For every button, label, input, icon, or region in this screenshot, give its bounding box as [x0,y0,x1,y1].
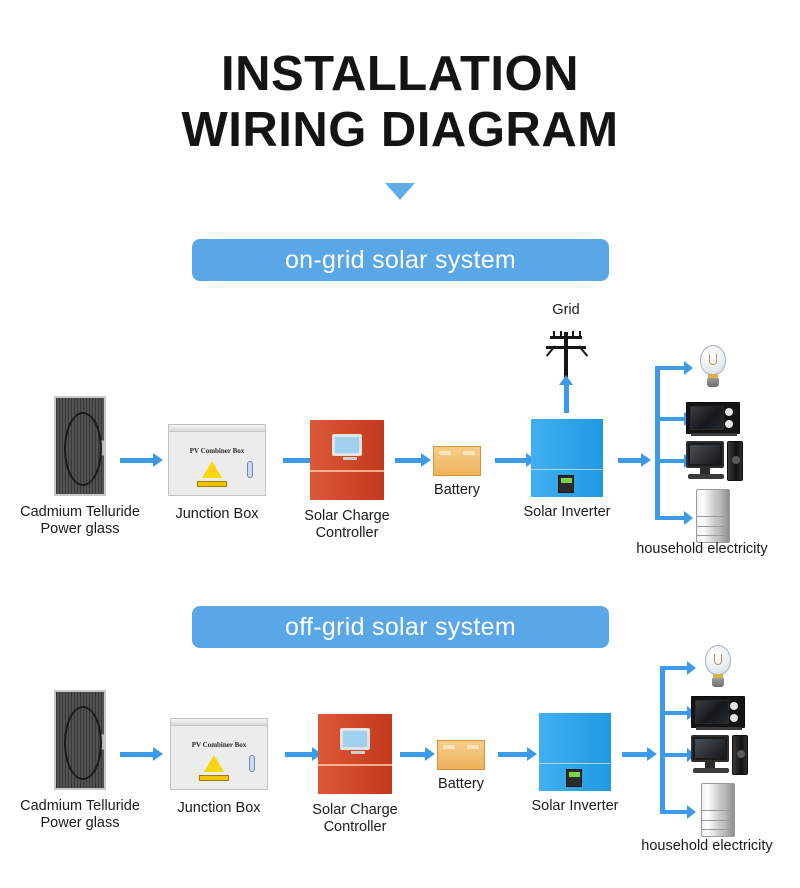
branch-to-fridge-offgrid [660,810,688,814]
junction-box-top-bar [171,719,267,726]
appliance-refrigerator-ongrid [696,489,730,543]
refrigerator-icon [696,489,730,543]
inverter-display-icon [558,475,574,493]
load-bus-ongrid [655,366,660,520]
title-line-1: INSTALLATION [0,46,800,102]
fridge-seam-3 [702,829,734,830]
arrow-junction-to-controller-ongrid [283,458,313,463]
battery-label: Battery [438,776,484,793]
arrow-battery-to-inverter-ongrid [495,458,527,463]
junction-box-label: Junction Box [175,506,258,523]
pole-pin-2 [560,331,562,336]
solar-panel-label: Cadmium Telluride Power glass [20,798,140,832]
microwave-foot [691,433,737,436]
junction-box-top-bar [169,425,265,432]
branch-to-computer-offgrid [660,753,688,757]
arrow-battery-to-inverter-offgrid [498,752,528,757]
node-controller-ongrid: Solar Charge Controller [310,420,384,500]
pole-pin-3 [572,331,574,336]
solar-charge-controller-icon [318,714,392,794]
inverter-seam [539,763,611,764]
section-banner-on-grid: on-grid solar system [192,239,609,281]
monitor-icon [691,735,729,762]
branch-to-computer-ongrid [655,459,685,463]
controller-seam [310,470,384,472]
branch-to-microwave-offgrid [660,711,688,715]
warning-strip-icon [197,481,227,487]
computer-icon [691,735,749,777]
junction-box-handle-icon [247,461,253,478]
junction-box-text: PV Combiner Box [169,447,265,455]
fridge-seam-2 [697,526,729,527]
pole-crossarm-upper [550,336,582,339]
solar-panel-icon [54,690,106,790]
household-label-ongrid: household electricity [636,541,767,558]
monitor-base [693,768,729,773]
refrigerator-icon [701,783,735,837]
controller-label: Solar Charge Controller [304,508,389,542]
pole-pin-4 [579,331,581,336]
microwave-door [695,700,729,724]
panel-junction-icon [100,440,106,456]
load-bus-offgrid [660,666,665,814]
node-solar-panel-ongrid: Cadmium Telluride Power glass [54,396,106,496]
junction-box-text: PV Combiner Box [171,741,267,749]
light-bulb-icon [697,345,729,387]
light-bulb-icon [702,645,734,687]
controller-label: Solar Charge Controller [312,802,397,836]
appliance-microwave-offgrid [691,696,745,728]
appliance-light-bulb-ongrid [697,345,729,387]
controller-lcd-icon [340,728,370,750]
computer-tower-icon [727,441,743,481]
microwave-icon [686,402,740,434]
solar-panel-label: Cadmium Telluride Power glass [20,504,140,538]
controller-seam [318,764,392,766]
appliance-computer-ongrid [686,441,744,483]
microwave-foot [696,727,742,730]
arrow-junction-to-controller-offgrid [285,752,313,757]
microwave-knob-1 [730,702,738,710]
node-battery-offgrid: Battery [437,740,485,770]
inverter-label: Solar Inverter [523,504,610,521]
title-line-2: WIRING DIAGRAM [0,102,800,158]
branch-to-fridge-ongrid [655,516,685,520]
warning-strip-icon [199,775,229,781]
warning-triangle-icon [202,461,222,478]
arrow-panel-to-junction-offgrid [120,752,154,757]
node-junction-box-ongrid: PV Combiner Box Junction Box [168,424,266,496]
arrow-inverter-to-loads-offgrid [622,752,648,757]
battery-icon [437,740,485,770]
solar-charge-controller-icon [310,420,384,500]
monitor-icon [686,441,724,468]
appliance-computer-offgrid [691,735,749,777]
microwave-icon [691,696,745,728]
microwave-knob-2 [725,420,733,428]
computer-icon [686,441,744,483]
arrow-inverter-to-grid [564,385,569,413]
fridge-seam-3 [697,535,729,536]
node-junction-box-offgrid: PV Combiner Box Junction Box [170,718,268,790]
microwave-door [690,406,724,430]
inverter-display-icon [566,769,582,787]
branch-to-microwave-ongrid [655,417,685,421]
junction-box-icon: PV Combiner Box [170,718,268,790]
panel-junction-icon [100,734,106,750]
solar-panel-icon [54,396,106,496]
bulb-filament [709,354,717,365]
branch-to-bulb-offgrid [660,666,688,670]
appliance-refrigerator-offgrid [701,783,735,837]
arrow-controller-to-battery-offgrid [400,752,426,757]
solar-inverter-icon [531,419,603,497]
computer-tower-icon [732,735,748,775]
node-controller-offgrid: Solar Charge Controller [318,714,392,794]
appliance-light-bulb-offgrid [702,645,734,687]
bulb-filament [714,654,722,665]
appliance-microwave-ongrid [686,402,740,434]
solar-inverter-icon [539,713,611,791]
household-label-offgrid: household electricity [641,838,772,855]
arrow-controller-to-battery-ongrid [395,458,422,463]
arrow-panel-to-junction-ongrid [120,458,154,463]
battery-icon [433,446,481,476]
node-battery-ongrid: Battery [433,446,481,476]
junction-box-icon: PV Combiner Box [168,424,266,496]
bulb-base [712,678,724,687]
chevron-down-icon [385,183,415,200]
monitor-base [688,474,724,479]
controller-lcd-icon [332,434,362,456]
section-banner-off-grid: off-grid solar system [192,606,609,648]
battery-label: Battery [434,482,480,499]
arrow-inverter-to-loads-ongrid [618,458,642,463]
node-solar-panel-offgrid: Cadmium Telluride Power glass [54,690,106,790]
bulb-base [707,378,719,387]
junction-box-label: Junction Box [177,800,260,817]
node-inverter-offgrid: Solar Inverter [539,713,611,791]
fridge-seam-1 [702,810,734,811]
node-inverter-ongrid: Solar Inverter [531,419,603,497]
junction-box-handle-icon [249,755,255,772]
inverter-label: Solar Inverter [531,798,618,815]
grid-label: Grid [552,302,579,319]
warning-triangle-icon [204,755,224,772]
fridge-seam-1 [697,516,729,517]
page-title: INSTALLATION WIRING DIAGRAM [0,46,800,158]
microwave-knob-1 [725,408,733,416]
inverter-seam [531,469,603,470]
fridge-seam-2 [702,820,734,821]
microwave-knob-2 [730,714,738,722]
branch-to-bulb-ongrid [655,366,685,370]
pole-pin-1 [553,331,555,336]
